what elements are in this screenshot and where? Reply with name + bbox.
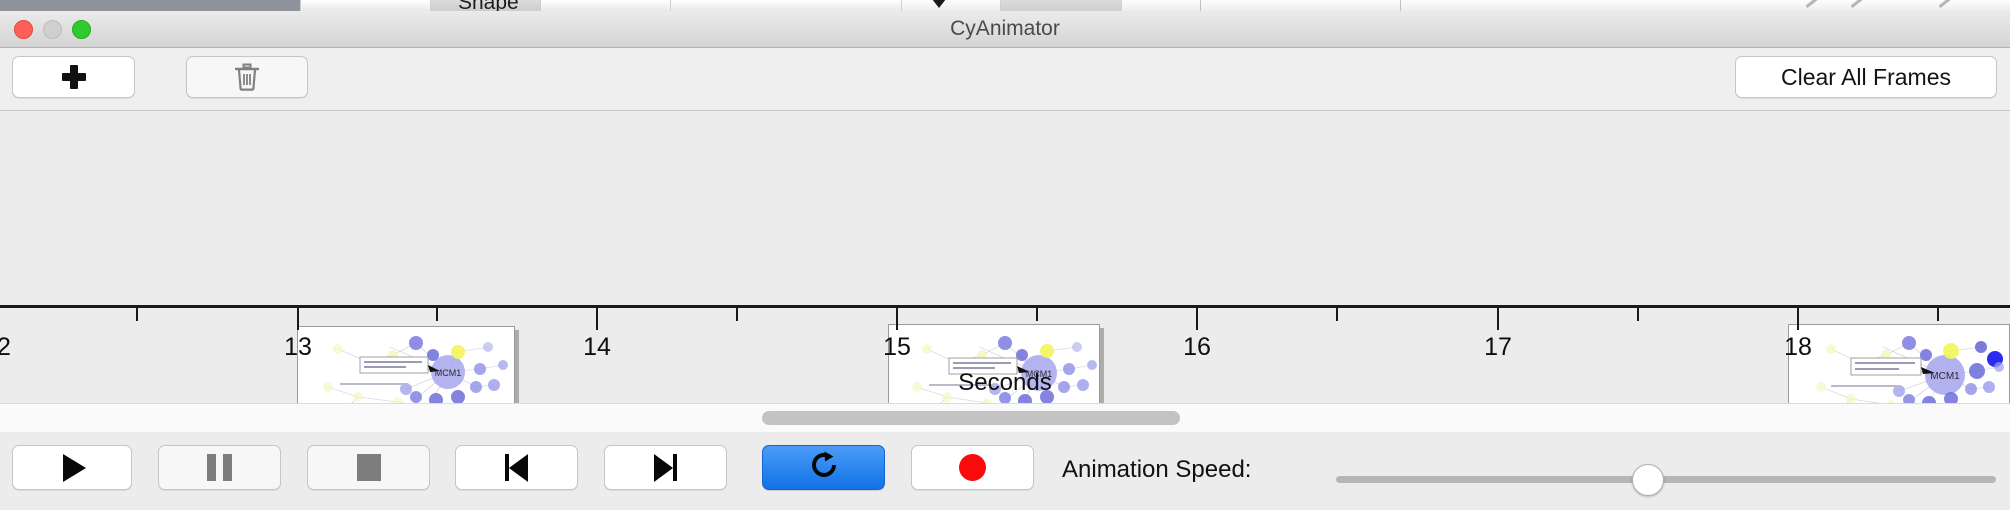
animation-speed-slider[interactable]: [1336, 476, 1996, 483]
loop-button[interactable]: [762, 445, 885, 490]
axis-minor-tick: [1937, 308, 1939, 321]
animation-speed-slider-thumb[interactable]: [1632, 464, 1664, 496]
window-title: CyAnimator: [0, 11, 2010, 47]
axis-major-tick: [1196, 308, 1198, 330]
add-frame-button[interactable]: [12, 56, 135, 98]
axis-tick-label: 14: [583, 333, 611, 362]
axis-title: Seconds: [0, 369, 2010, 397]
title-bar[interactable]: CyAnimator: [0, 11, 2010, 48]
axis-minor-tick: [136, 308, 138, 321]
axis-minor-tick: [436, 308, 438, 321]
axis-tick-label: 13: [284, 333, 312, 362]
axis-minor-tick: [736, 308, 738, 321]
background-segment-active: [1000, 0, 1122, 11]
skip-back-icon: [505, 454, 528, 482]
axis-tick-label: 17: [1484, 333, 1512, 362]
play-icon: [63, 454, 86, 482]
scrollbar-thumb[interactable]: [762, 411, 1180, 425]
plus-icon: [61, 64, 87, 90]
axis-major-tick: [1797, 308, 1799, 330]
background-segment: [670, 0, 902, 11]
skip-back-button[interactable]: [455, 445, 578, 490]
axis-tick-label: 18: [1784, 333, 1812, 362]
timeline-panel[interactable]: MCM1: [0, 111, 2010, 403]
animation-speed-label: Animation Speed:: [1062, 456, 1251, 484]
background-segment: [300, 0, 432, 11]
timeline-scrollbar[interactable]: [0, 403, 2010, 433]
axis-tick-label: 2: [0, 333, 11, 362]
background-dark-panel: [0, 0, 300, 11]
background-caret-icon: [932, 0, 946, 8]
trash-icon: [234, 63, 260, 91]
axis-minor-tick: [1637, 308, 1639, 321]
toolbar: Clear All Frames: [0, 48, 2010, 111]
axis-tick-label: 16: [1183, 333, 1211, 362]
skip-forward-button[interactable]: [604, 445, 727, 490]
play-button[interactable]: [12, 445, 132, 490]
stop-icon: [357, 454, 381, 481]
stop-button[interactable]: [307, 445, 430, 490]
clear-all-frames-button[interactable]: Clear All Frames: [1735, 56, 1997, 98]
axis-major-tick: [297, 308, 299, 330]
background-segment: [540, 0, 672, 11]
pause-button[interactable]: [158, 445, 281, 490]
background-divider: [1200, 0, 1201, 11]
delete-frame-button[interactable]: [186, 56, 308, 98]
timeline-axis: [0, 305, 2010, 308]
skip-forward-icon: [654, 454, 677, 482]
axis-tick-label: 15: [883, 333, 911, 362]
axis-major-tick: [1497, 308, 1499, 330]
record-icon: [959, 454, 986, 481]
axis-major-tick: [596, 308, 598, 330]
record-button[interactable]: [911, 445, 1034, 490]
axis-major-tick: [896, 308, 898, 330]
loop-icon: [808, 449, 840, 486]
background-divider: [1400, 0, 1401, 11]
axis-minor-tick: [1036, 308, 1038, 321]
transport-bar: Animation Speed:: [0, 432, 2010, 510]
axis-minor-tick: [1336, 308, 1338, 321]
cyanimator-window: Shape CyAnimator: [0, 0, 2010, 510]
pause-icon: [207, 454, 232, 481]
